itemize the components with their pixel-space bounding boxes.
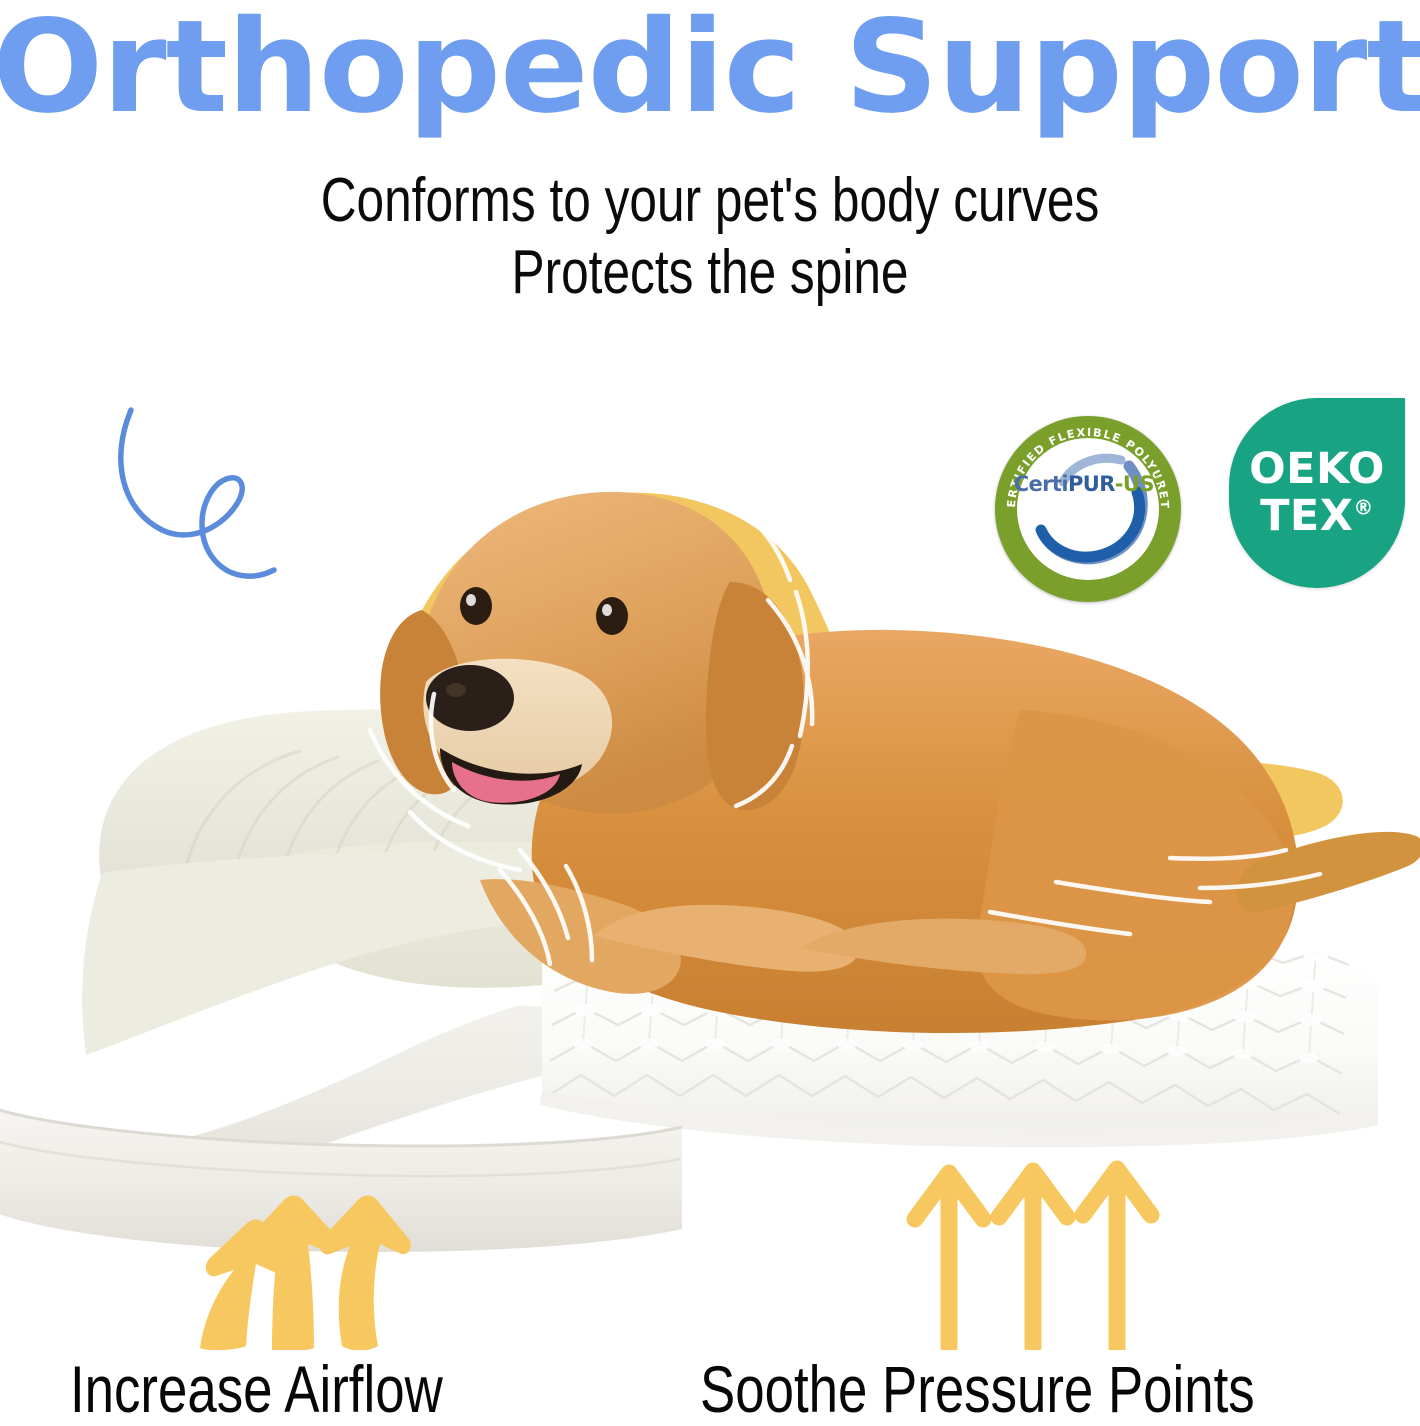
golden-retriever-dog <box>330 430 1420 1170</box>
page-title: Orthopedic Support <box>0 4 1420 132</box>
pressure-point-arrows <box>905 1155 1165 1350</box>
certipur-word-pur: PUR <box>1068 472 1115 496</box>
certipur-word-certi: Certi <box>1014 472 1068 496</box>
certipur-word-us: -US <box>1115 472 1154 496</box>
caption-soothe-pressure-points: Soothe Pressure Points <box>700 1356 1255 1422</box>
subtitle-line-1: Conforms to your pet's body curves <box>142 168 1278 235</box>
certipur-wordmark: CertiPUR-US® <box>995 472 1181 496</box>
certipur-registered-mark: ® <box>1154 476 1162 486</box>
promo-image: Orthopedic Support Conforms to your pet'… <box>0 0 1420 1426</box>
airflow-arrows <box>160 1160 420 1350</box>
caption-increase-airflow: Increase Airflow <box>70 1356 443 1422</box>
subtitle-line-2: Protects the spine <box>142 240 1278 307</box>
